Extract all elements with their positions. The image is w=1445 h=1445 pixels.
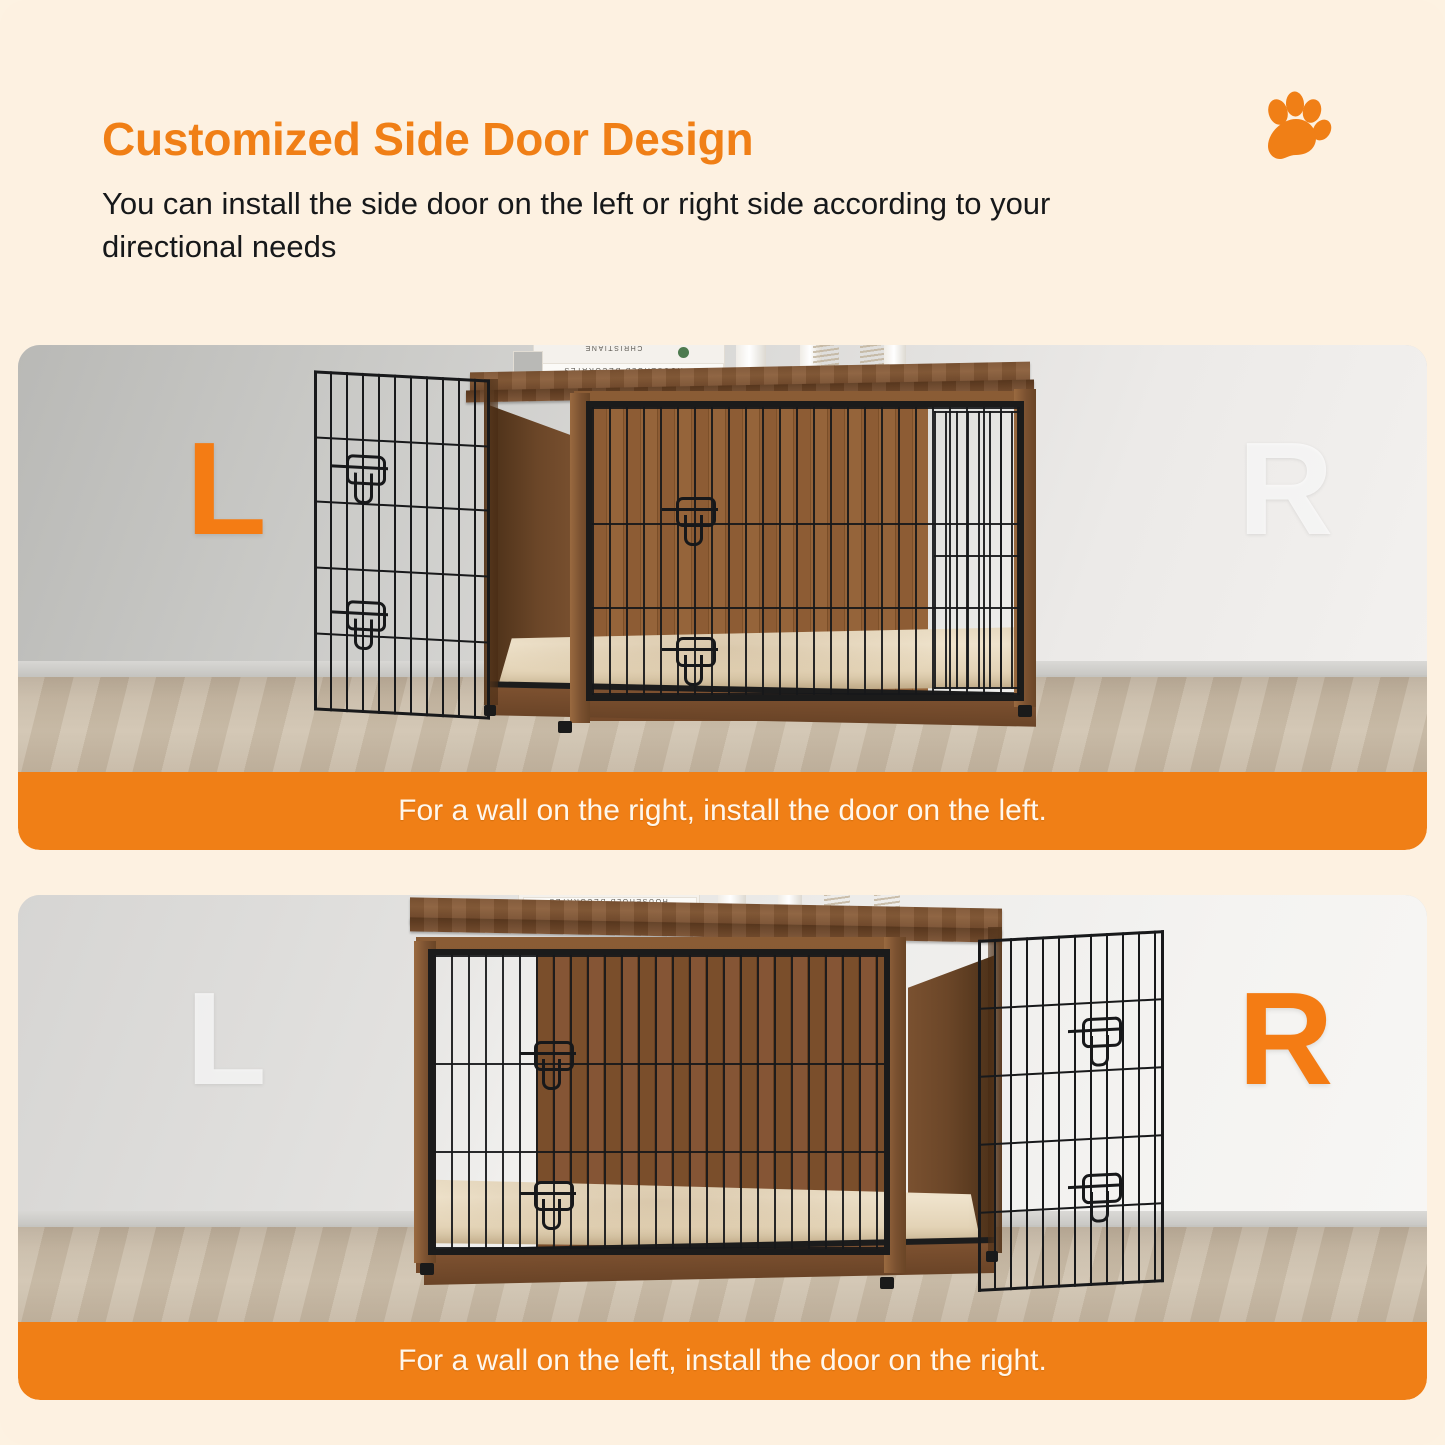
header: Customized Side Door Design You can inst… <box>0 0 1445 345</box>
letter-right-marker: R <box>1238 973 1333 1105</box>
detached-door-panel-left[interactable] <box>314 370 490 719</box>
panel-right-door: L R CHRISTIANE HOUSEHOLD DECORATES <box>18 895 1427 1400</box>
letter-left-marker: L <box>186 973 267 1105</box>
panel-left-door: L R CHRISTIANE HOUSEHOLD DECORATES <box>18 345 1427 850</box>
book-title-text: CHRISTIANE <box>584 345 642 351</box>
caption-banner-2: For a wall on the left, install the door… <box>18 1322 1427 1400</box>
caption-text-2: For a wall on the left, install the door… <box>398 1344 1047 1378</box>
crate-foot-left <box>420 1263 434 1275</box>
door-latch-upper[interactable] <box>342 454 388 490</box>
page-title: Customized Side Door Design <box>102 112 753 166</box>
crate-latch-lower[interactable] <box>530 1181 576 1215</box>
crate-foot-left <box>558 721 572 733</box>
crate-foot-right <box>1018 705 1032 717</box>
crate-latch-lower[interactable] <box>672 637 718 671</box>
crate-grille-border <box>586 401 1024 701</box>
crate-latch-upper[interactable] <box>530 1041 576 1075</box>
letter-left-marker: L <box>186 423 267 555</box>
caption-text-1: For a wall on the right, install the doo… <box>398 794 1047 828</box>
door-latch-lower[interactable] <box>1078 1172 1124 1208</box>
door-latch-lower[interactable] <box>342 600 388 636</box>
caption-banner-1: For a wall on the right, install the doo… <box>18 772 1427 850</box>
infographic-page: Customized Side Door Design You can inst… <box>0 0 1445 1445</box>
page-subtitle: You can install the side door on the lef… <box>102 182 1102 268</box>
paw-print-icon <box>1256 86 1336 164</box>
product-photo-left-door: L R CHRISTIANE HOUSEHOLD DECORATES <box>18 345 1427 795</box>
product-photo-right-door: L R CHRISTIANE HOUSEHOLD DECORATES <box>18 895 1427 1345</box>
crate-latch-upper[interactable] <box>672 497 718 531</box>
crate-grille-border <box>428 949 890 1255</box>
letter-right-marker: R <box>1238 423 1333 555</box>
detached-door-panel-right[interactable] <box>978 930 1164 1292</box>
crate-foot-right <box>880 1277 894 1289</box>
door-latch-upper[interactable] <box>1078 1016 1124 1052</box>
